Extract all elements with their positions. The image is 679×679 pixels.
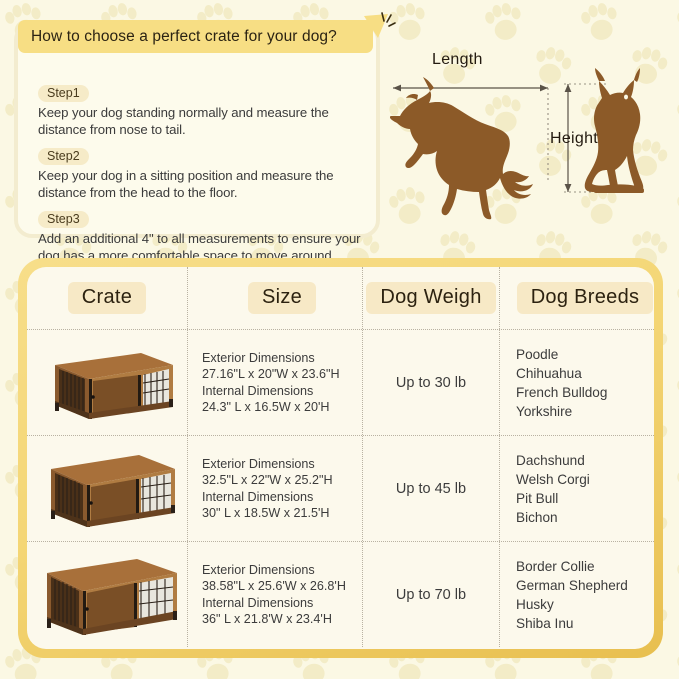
exterior-label: Exterior Dimensions <box>202 350 362 367</box>
breed-item: Chihuahua <box>516 364 654 383</box>
exterior-label: Exterior Dimensions <box>202 456 362 473</box>
internal-label: Internal Dimensions <box>202 489 362 506</box>
exterior-value: 32.5"L x 22"W x 25.2"H <box>202 472 362 489</box>
breed-item: Yorkshire <box>516 402 654 421</box>
length-label: Length <box>432 51 483 69</box>
size-cell: Exterior Dimensions 27.16"L x 20"W x 23.… <box>187 330 362 435</box>
table-row: Exterior Dimensions 32.5"L x 22"W x 25.2… <box>27 435 654 541</box>
breeds-cell: Border Collie German Shepherd Husky Shib… <box>499 542 654 647</box>
internal-value: 30" L x 18.5W x 21.5'H <box>202 505 362 522</box>
crate-image-cell <box>27 542 187 647</box>
breed-item: Husky <box>516 595 654 614</box>
card-title-text: How to choose a perfect crate for your d… <box>31 28 337 46</box>
exterior-label: Exterior Dimensions <box>202 562 362 579</box>
steps-list: Step1 Keep your dog standing normally an… <box>38 84 378 273</box>
internal-value: 24.3" L x 16.5W x 20'H <box>202 399 362 416</box>
breed-item: Shiba Inu <box>516 614 654 633</box>
crate-image-cell <box>27 330 187 435</box>
weight-value: Up to 30 lb <box>396 375 466 391</box>
internal-value: 36" L x 21.8'W x 23.4'H <box>202 611 362 628</box>
header-cell-weight: Dog Weigh <box>362 267 499 329</box>
weight-cell: Up to 70 lb <box>362 542 499 647</box>
dog-crate-photo <box>33 547 181 643</box>
crate-image-cell <box>27 436 187 541</box>
breed-item: Border Collie <box>516 557 654 576</box>
exterior-value: 38.58"L x 25.6'W x 26.8'H <box>202 578 362 595</box>
header-label: Size <box>248 282 316 314</box>
size-cell: Exterior Dimensions 32.5"L x 22"W x 25.2… <box>187 436 362 541</box>
internal-label: Internal Dimensions <box>202 383 362 400</box>
step-text: Keep your dog in a sitting position and … <box>38 168 378 201</box>
step-badge: Step2 <box>38 148 89 165</box>
how-to-choose-card: Step1 Keep your dog standing normally an… <box>14 22 380 238</box>
exterior-value: 27.16"L x 20"W x 23.6"H <box>202 366 362 383</box>
step-item: Step2 Keep your dog in a sitting positio… <box>38 147 378 201</box>
standing-dog-silhouette <box>390 77 533 219</box>
breed-item: Welsh Corgi <box>516 470 654 489</box>
table-row: Exterior Dimensions 27.16"L x 20"W x 23.… <box>27 330 654 435</box>
size-cell: Exterior Dimensions 38.58"L x 25.6'W x 2… <box>187 542 362 647</box>
table-row: Exterior Dimensions 38.58"L x 25.6'W x 2… <box>27 541 654 647</box>
height-label: Height <box>550 130 598 148</box>
step-badge: Step3 <box>38 211 89 228</box>
step-badge: Step1 <box>38 85 89 102</box>
weight-value: Up to 45 lb <box>396 481 466 497</box>
header-cell-breeds: Dog Breeds <box>499 267 654 329</box>
weight-cell: Up to 30 lb <box>362 330 499 435</box>
crate-comparison-table: Crate Size Dog Weigh Dog Breeds <box>18 258 663 658</box>
breeds-cell: Poodle Chihuahua French Bulldog Yorkshir… <box>499 330 654 435</box>
header-cell-size: Size <box>187 267 362 329</box>
dog-measurement-diagram: Length Height <box>390 50 670 235</box>
breed-item: Pit Bull <box>516 489 654 508</box>
breed-item: Dachshund <box>516 451 654 470</box>
header-label: Crate <box>68 282 146 314</box>
header-cell-crate: Crate <box>27 267 187 329</box>
header-label: Dog Weigh <box>366 282 495 314</box>
step-item: Step3 Add an additional 4" to all measur… <box>38 210 378 264</box>
breed-item: Bichon <box>516 508 654 527</box>
table-header-row: Crate Size Dog Weigh Dog Breeds <box>27 267 654 330</box>
breed-item: German Shepherd <box>516 576 654 595</box>
dog-crate-photo <box>33 335 181 431</box>
internal-label: Internal Dimensions <box>202 595 362 612</box>
dog-crate-photo <box>33 441 181 537</box>
breeds-cell: Dachshund Welsh Corgi Pit Bull Bichon <box>499 436 654 541</box>
breed-item: Poodle <box>516 345 654 364</box>
step-text: Keep your dog standing normally and meas… <box>38 105 378 138</box>
breed-item: French Bulldog <box>516 383 654 402</box>
weight-cell: Up to 45 lb <box>362 436 499 541</box>
card-title-banner: How to choose a perfect crate for your d… <box>18 20 373 53</box>
header-label: Dog Breeds <box>517 282 654 314</box>
step-item: Step1 Keep your dog standing normally an… <box>38 84 378 138</box>
weight-value: Up to 70 lb <box>396 587 466 603</box>
